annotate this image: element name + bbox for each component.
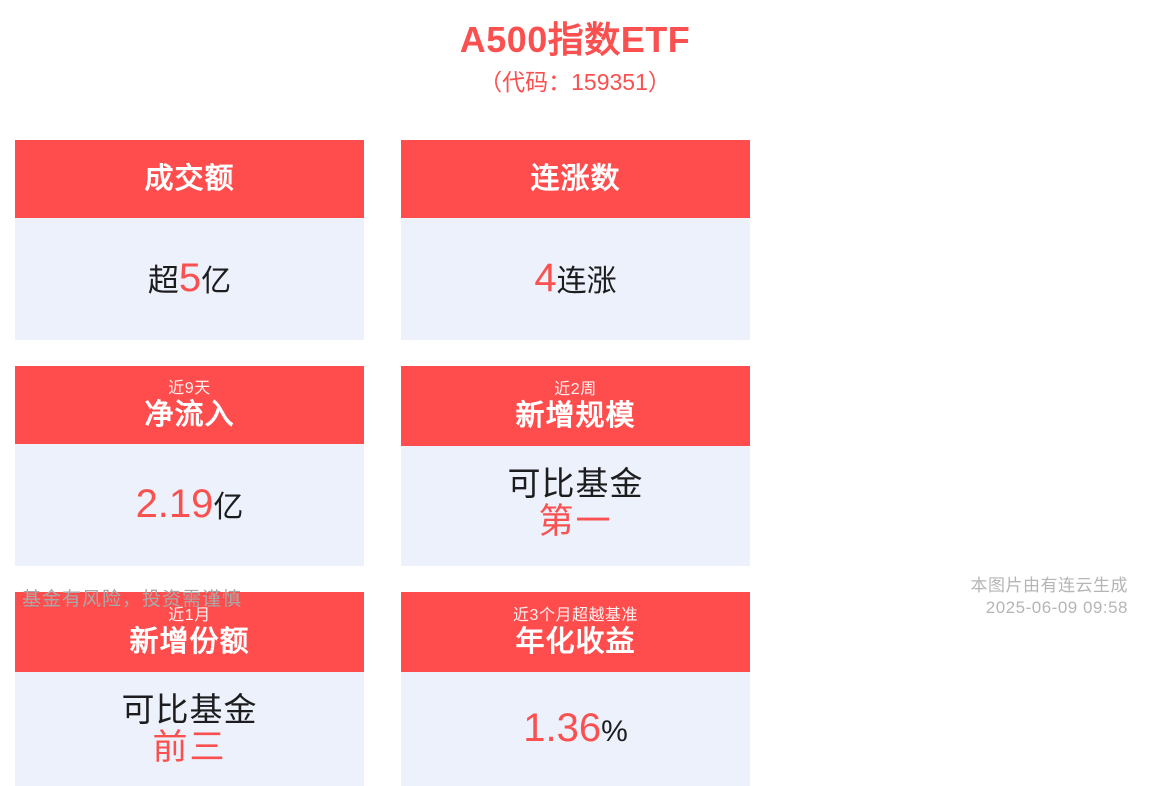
card-title: 净流入 (144, 398, 234, 432)
card-value: 超 5 亿 (148, 256, 231, 302)
card-eyebrow: 近2周 (554, 380, 596, 399)
card-title: 新增规模 (515, 399, 635, 433)
risk-disclaimer: 基金有风险，投资需谨慎 (22, 584, 242, 611)
value-number: 4 (534, 256, 556, 300)
card-header: 近2周 新增规模 (401, 366, 750, 446)
page-title: A500指数ETF (0, 18, 1150, 62)
value-number: 2.19 (136, 482, 214, 526)
value-suffix: 连涨 (557, 262, 617, 302)
value-number: 1.36 (523, 706, 601, 750)
metric-card-new-scale: 近2周 新增规模 可比基金 第一 (401, 366, 750, 566)
card-value: 可比基金 第一 (508, 465, 644, 542)
card-value: 2.19 亿 (136, 482, 244, 528)
page-header: A500指数ETF （代码：159351） (0, 0, 1150, 100)
generated-timestamp: 2025-06-09 09:58 (971, 597, 1129, 619)
metric-card-turnover: 成交额 超 5 亿 (15, 140, 364, 340)
card-header: 近9天 净流入 (15, 366, 364, 444)
card-title: 连涨数 (530, 162, 620, 196)
metric-card-consecutive-gains: 连涨数 4 连涨 (401, 140, 750, 340)
value-suffix: 亿 (201, 262, 231, 302)
card-body: 可比基金 前三 (15, 672, 364, 786)
card-body: 可比基金 第一 (401, 446, 750, 560)
card-value: 可比基金 前三 (122, 691, 258, 768)
value-rank-label: 可比基金 (122, 691, 258, 729)
value-suffix: % (601, 712, 628, 752)
value-rank: 第一 (508, 502, 644, 542)
card-value: 4 连涨 (534, 256, 616, 302)
metric-card-grid: 成交额 超 5 亿 连涨数 4 连涨 近9天 净流入 (15, 140, 1135, 786)
card-body: 4 连涨 (401, 218, 750, 340)
generator-source: 本图片由有连云生成 (971, 575, 1129, 597)
card-header: 成交额 (15, 140, 364, 218)
page-footer: 基金有风险，投资需谨慎 本图片由有连云生成 2025-06-09 09:58 (0, 570, 1150, 632)
fund-code-subtitle: （代码：159351） (0, 64, 1150, 100)
generator-info: 本图片由有连云生成 2025-06-09 09:58 (971, 575, 1129, 619)
card-body: 2.19 亿 (15, 444, 364, 566)
metric-card-net-inflow: 近9天 净流入 2.19 亿 (15, 366, 364, 566)
card-header: 连涨数 (401, 140, 750, 218)
value-prefix: 超 (148, 261, 179, 301)
card-body: 1.36 % (401, 672, 750, 786)
value-rank: 前三 (122, 728, 258, 768)
value-rank-label: 可比基金 (508, 465, 644, 503)
card-body: 超 5 亿 (15, 218, 364, 340)
card-eyebrow: 近9天 (168, 379, 210, 398)
card-value: 1.36 % (523, 706, 628, 752)
value-suffix: 亿 (213, 488, 243, 528)
value-number: 5 (179, 256, 201, 300)
card-title: 成交额 (144, 162, 234, 196)
